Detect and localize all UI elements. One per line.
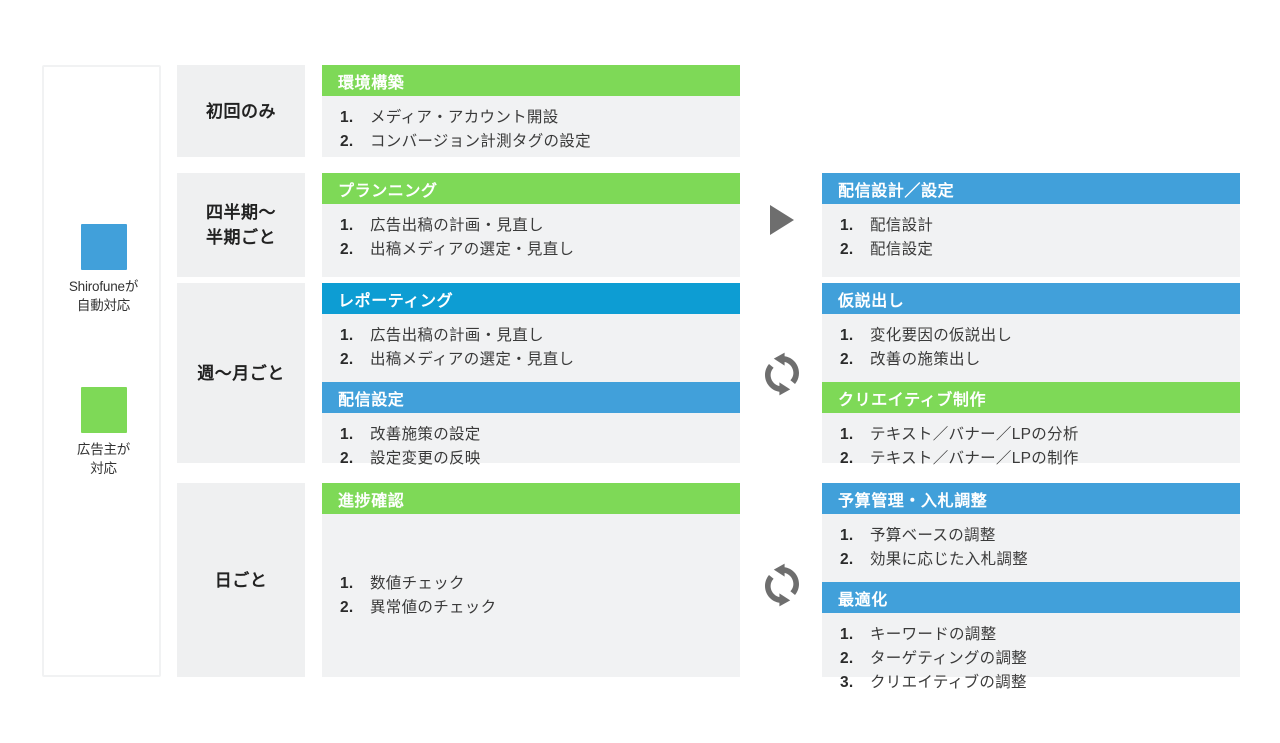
card-title: 配信設定 <box>338 386 404 410</box>
period-label-first-time: 初回のみ <box>206 99 276 124</box>
period-label-daily: 日ごと <box>215 568 268 593</box>
legend-entry-shirofune-auto: Shirofuneが 自動対応 <box>44 224 163 315</box>
card-stack-right-row3: 仮説出し 変化要因の仮説出し 改善の施策出し クリエイティブ制作 テキスト／バナ… <box>822 283 1240 463</box>
refresh-cycle-icon <box>756 348 808 400</box>
card-header-haishin-sekkei: 配信設計／設定 <box>822 173 1240 204</box>
legend-entry-advertiser: 広告主が 対応 <box>44 387 163 478</box>
card-body-shinchoku-kakunin: 数値チェック 異常値のチェック <box>322 514 740 630</box>
card-stack-mid-row3: レポーティング 広告出稿の計画・見直し 出稿メディアの選定・見直し 配信設定 改… <box>322 283 740 463</box>
refresh-cycle-icon <box>756 559 808 611</box>
list-item: 変化要因の仮説出し <box>870 324 1240 348</box>
card-header-reporting: レポーティング <box>322 283 740 314</box>
list-item: テキスト／バナー／LPの分析 <box>870 423 1240 447</box>
list-item: テキスト／バナー／LPの制作 <box>870 447 1240 471</box>
card-header-kasetsu-dashi: 仮説出し <box>822 283 1240 314</box>
list-item: 出稿メディアの選定・見直し <box>370 348 740 372</box>
list-item: 数値チェック <box>370 572 740 596</box>
card-title: 予算管理・入札調整 <box>838 487 987 511</box>
connector-cycle-weekly <box>752 345 812 403</box>
card-title: 仮説出し <box>838 287 904 311</box>
card-stack-mid-row1: 環境構築 メディア・アカウント開設 コンバージョン計測タグの設定 <box>322 65 740 157</box>
card-body-haishin-settei: 改善施策の設定 設定変更の反映 <box>322 413 740 481</box>
diagram-canvas: Shirofuneが 自動対応 広告主が 対応 初回のみ 四半期〜 半期ごと 週… <box>0 0 1280 743</box>
card-body-haishin-sekkei: 配信設計 配信設定 <box>822 204 1240 272</box>
period-label-quarterly: 四半期〜 半期ごと <box>206 200 276 250</box>
card-body-kankyo-kouchiku: メディア・アカウント開設 コンバージョン計測タグの設定 <box>322 96 740 164</box>
card-body-kasetsu-dashi: 変化要因の仮説出し 改善の施策出し <box>822 314 1240 382</box>
legend-caption-shirofune-auto: Shirofuneが 自動対応 <box>44 277 163 315</box>
period-box-weekly: 週〜月ごと <box>177 283 305 463</box>
period-box-first-time: 初回のみ <box>177 65 305 157</box>
list-item: 出稿メディアの選定・見直し <box>370 238 740 262</box>
triangle-right-icon <box>770 205 794 235</box>
list-item: 設定変更の反映 <box>370 447 740 471</box>
list-item: 改善の施策出し <box>870 348 1240 372</box>
card-body-creative-seisaku: テキスト／バナー／LPの分析 テキスト／バナー／LPの制作 <box>822 413 1240 481</box>
connector-arrow-right <box>752 203 812 237</box>
card-body-planning: 広告出稿の計画・見直し 出稿メディアの選定・見直し <box>322 204 740 272</box>
card-title: 最適化 <box>838 586 888 610</box>
list-item: 広告出稿の計画・見直し <box>370 324 740 348</box>
card-stack-right-row4: 予算管理・入札調整 予算ベースの調整 効果に応じた入札調整 最適化 キーワードの… <box>822 483 1240 677</box>
card-header-yosan-kanri: 予算管理・入札調整 <box>822 483 1240 514</box>
connector-cycle-daily <box>752 556 812 614</box>
card-header-kankyo-kouchiku: 環境構築 <box>322 65 740 96</box>
list-item: ターゲティングの調整 <box>870 647 1240 671</box>
card-header-haishin-settei: 配信設定 <box>322 382 740 413</box>
list-item: 改善施策の設定 <box>370 423 740 447</box>
card-title: クリエイティブ制作 <box>838 386 986 410</box>
list-item: キーワードの調整 <box>870 623 1240 647</box>
legend-caption-advertiser: 広告主が 対応 <box>44 440 163 478</box>
legend-panel: Shirofuneが 自動対応 広告主が 対応 <box>42 65 161 677</box>
card-stack-mid-row2: プランニング 広告出稿の計画・見直し 出稿メディアの選定・見直し <box>322 173 740 277</box>
card-body-yosan-kanri: 予算ベースの調整 効果に応じた入札調整 <box>822 514 1240 582</box>
card-body-saitekika: キーワードの調整 ターゲティングの調整 クリエイティブの調整 <box>822 613 1240 705</box>
list-item: 広告出稿の計画・見直し <box>370 214 740 238</box>
card-title: 配信設計／設定 <box>838 177 954 201</box>
card-body-reporting: 広告出稿の計画・見直し 出稿メディアの選定・見直し <box>322 314 740 382</box>
card-title: 進捗確認 <box>338 487 404 511</box>
list-item: 配信設定 <box>870 238 1240 262</box>
card-title: プランニング <box>338 177 438 201</box>
card-header-shinchoku-kakunin: 進捗確認 <box>322 483 740 514</box>
period-box-quarterly: 四半期〜 半期ごと <box>177 173 305 277</box>
period-box-daily: 日ごと <box>177 483 305 677</box>
card-header-saitekika: 最適化 <box>822 582 1240 613</box>
list-item: 効果に応じた入札調整 <box>870 548 1240 572</box>
list-item: コンバージョン計測タグの設定 <box>370 130 740 154</box>
card-title: 環境構築 <box>338 69 404 93</box>
card-stack-mid-row4: 進捗確認 数値チェック 異常値のチェック <box>322 483 740 677</box>
card-title: レポーティング <box>338 287 453 311</box>
period-label-weekly: 週〜月ごと <box>197 361 285 386</box>
card-stack-right-row2: 配信設計／設定 配信設計 配信設定 <box>822 173 1240 277</box>
card-header-creative-seisaku: クリエイティブ制作 <box>822 382 1240 413</box>
legend-swatch-green-icon <box>81 387 127 433</box>
list-item: 予算ベースの調整 <box>870 524 1240 548</box>
legend-swatch-blue-icon <box>81 224 127 270</box>
list-item: 異常値のチェック <box>370 596 740 620</box>
list-item: 配信設計 <box>870 214 1240 238</box>
card-header-planning: プランニング <box>322 173 740 204</box>
list-item: クリエイティブの調整 <box>870 671 1240 695</box>
list-item: メディア・アカウント開設 <box>370 106 740 130</box>
